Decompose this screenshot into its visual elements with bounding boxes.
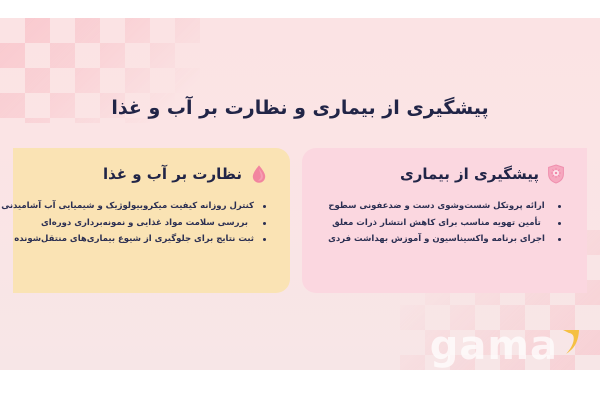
cards-row: پیشگیری از بیماری ارائه پروتکل شست‌وشوی …: [0, 148, 600, 293]
card-header-disease-prevention: پیشگیری از بیماری: [324, 164, 565, 184]
card-disease-prevention: پیشگیری از بیماری ارائه پروتکل شست‌وشوی …: [302, 148, 587, 293]
card-title-water-food-monitoring: نظارت بر آب و غذا: [103, 165, 242, 183]
card-list-disease-prevention: ارائه پروتکل شست‌وشوی دست و ضدعفونی سطوح…: [324, 198, 565, 248]
list-item: تأمین تهویه مناسب برای کاهش انتشار ذرات …: [324, 215, 561, 232]
list-item: ارائه پروتکل شست‌وشوی دست و ضدعفونی سطوح: [324, 198, 561, 215]
list-item: اجرای برنامه واکسیناسیون و آموزش بهداشت …: [324, 231, 561, 248]
water-droplet-icon: [250, 164, 268, 184]
card-water-food-monitoring: نظارت بر آب و غذا کنترل روزانه کیفیت میک…: [13, 148, 290, 293]
slide-canvas: پیشگیری از بیماری و نظارت بر آب و غذا: [0, 18, 600, 370]
card-header-water-food-monitoring: نظارت بر آب و غذا: [35, 164, 268, 184]
watermark: gama: [430, 328, 582, 364]
shield-virus-icon: [547, 164, 565, 184]
watermark-text: gama: [430, 328, 558, 364]
card-title-disease-prevention: پیشگیری از بیماری: [400, 165, 539, 183]
list-item: کنترل روزانه کیفیت میکروبیولوژیک و شیمیا…: [35, 198, 266, 215]
card-list-water-food-monitoring: کنترل روزانه کیفیت میکروبیولوژیک و شیمیا…: [35, 198, 268, 248]
slide-root: پیشگیری از بیماری و نظارت بر آب و غذا: [0, 0, 600, 400]
page-title: پیشگیری از بیماری و نظارت بر آب و غذا: [0, 96, 600, 121]
list-item: بررسی سلامت مواد غذایی و نمونه‌برداری دو…: [35, 215, 266, 232]
gama-logo-mark-icon: [560, 328, 582, 362]
list-item: ثبت نتایج برای جلوگیری از شیوع بیماری‌ها…: [35, 231, 266, 248]
